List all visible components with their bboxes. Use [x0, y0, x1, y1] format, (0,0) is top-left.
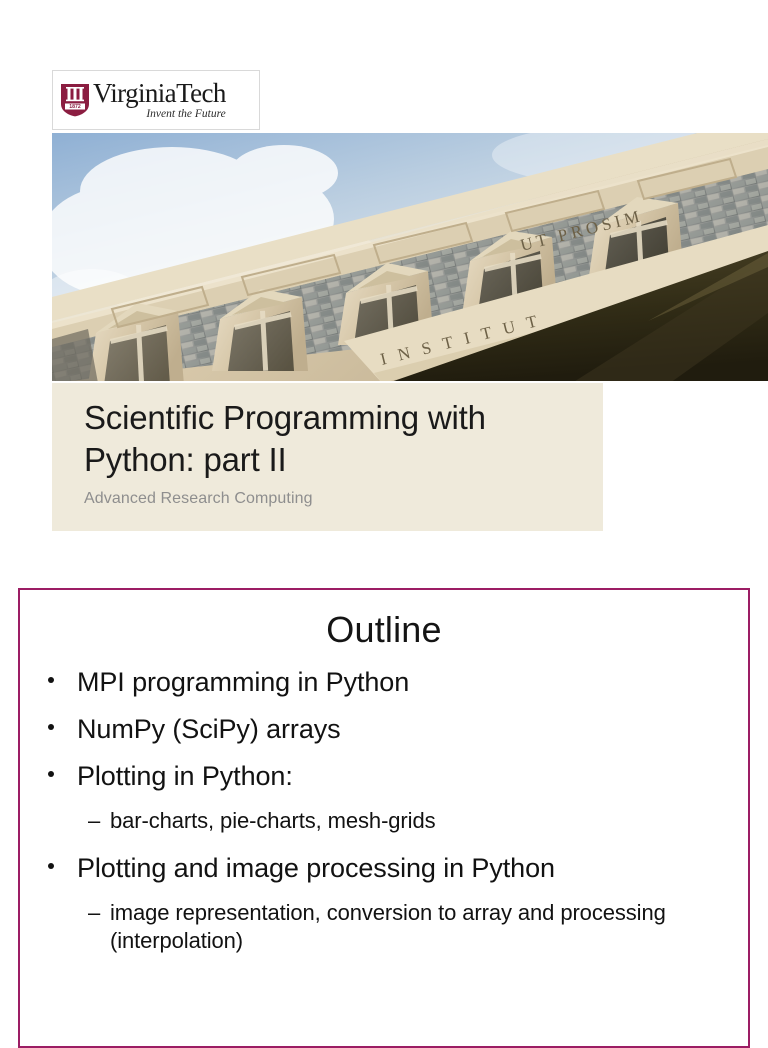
banner-photo: UT PROSIM I N S T I T U T — [52, 133, 768, 381]
vt-wordmark-name: VirginiaTech — [93, 80, 226, 107]
list-item: Plotting and image processing in Python — [20, 855, 748, 882]
outline-list: MPI programming in Python NumPy (SciPy) … — [20, 669, 748, 955]
title-plate: Scientific Programming with Python: part… — [52, 383, 603, 531]
slide-root: 1872 VirginiaTech Invent the Future — [0, 0, 768, 1024]
list-item-label: MPI programming in Python — [77, 667, 409, 697]
sub-list-item-label: bar-charts, pie-charts, mesh-grids — [110, 808, 435, 833]
list-item-label: NumPy (SciPy) arrays — [77, 714, 341, 744]
svg-text:1872: 1872 — [69, 104, 81, 110]
bullet-dot-icon — [48, 677, 54, 683]
vt-tagline: Invent the Future — [93, 109, 226, 121]
page-title: Scientific Programming with Python: part… — [84, 397, 589, 481]
outline-panel: Outline MPI programming in Python NumPy … — [18, 588, 750, 1048]
page-subtitle: Advanced Research Computing — [84, 490, 603, 508]
bullet-dot-icon — [48, 863, 54, 869]
list-item: NumPy (SciPy) arrays — [20, 716, 748, 743]
bullet-dot-icon — [48, 771, 54, 777]
vt-shield-icon: 1872 — [60, 83, 90, 117]
sub-list-item: – image representation, conversion to ar… — [20, 899, 748, 955]
page-title-line1: Scientific Programming with — [84, 397, 589, 439]
list-item-label: Plotting and image processing in Python — [77, 853, 555, 883]
list-item-label: Plotting in Python: — [77, 761, 293, 791]
outline-heading: Outline — [20, 609, 748, 651]
list-item: MPI programming in Python — [20, 669, 748, 696]
list-item: Plotting in Python: — [20, 763, 748, 790]
bullet-dash-icon: – — [88, 807, 100, 835]
vt-wordmark: VirginiaTech Invent the Future — [93, 80, 226, 121]
virginia-tech-logo: 1872 VirginiaTech Invent the Future — [52, 70, 260, 130]
sub-list-item-label: image representation, conversion to arra… — [110, 900, 666, 953]
bullet-dash-icon: – — [88, 899, 100, 927]
sub-list-item: – bar-charts, pie-charts, mesh-grids — [20, 807, 748, 835]
page-title-line2: Python: part II — [84, 439, 589, 481]
bullet-dot-icon — [48, 724, 54, 730]
